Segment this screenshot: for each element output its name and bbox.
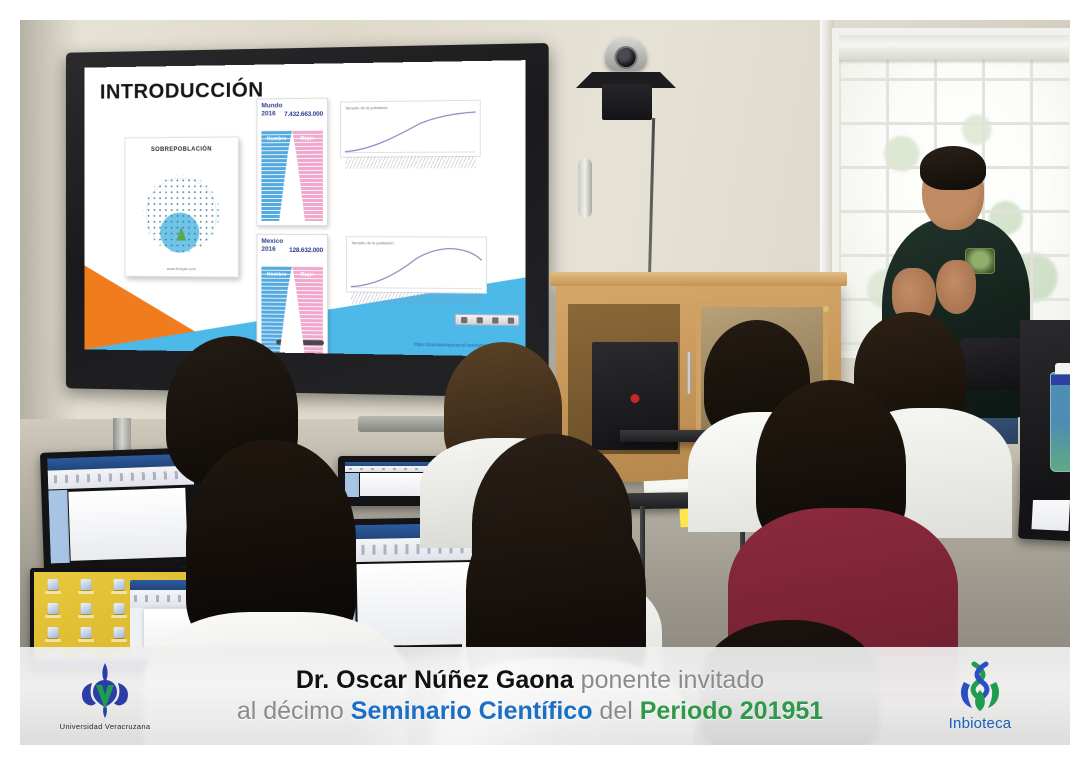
water-bottle [1050, 372, 1070, 472]
cabinet-door-handle[interactable] [687, 352, 691, 394]
bottle-cap [1055, 363, 1070, 374]
speaker-role: ponente invitado [574, 666, 764, 694]
population-growth-chart-mexico: Tamaño de la población [346, 236, 487, 294]
desktop-icon[interactable] [71, 626, 100, 647]
shape-icon[interactable] [492, 317, 498, 323]
pyramid-female-label: Mujer [300, 272, 314, 278]
pyramid-female-shape [292, 130, 323, 221]
globe-graphic [140, 171, 223, 256]
desktop-icon[interactable] [38, 626, 67, 647]
pyramid-male-side: Hombre [261, 130, 292, 221]
pyramid-body: Hombre Mujer [261, 130, 323, 221]
cabinet-latch-knob[interactable] [823, 306, 829, 312]
event-period: Periodo 201951 [640, 697, 823, 725]
event-name: Seminario Científico [351, 697, 593, 725]
classroom-photograph: INTRODUCCIÓN SOBREPOBLACIÓN www.freepik.… [20, 20, 1070, 745]
banner-caption-text: Dr. Oscar Núñez Gaona ponente invitado a… [190, 666, 890, 727]
equipment-power-led [631, 394, 640, 403]
seminar-announcement-poster: INTRODUCCIÓN SOBREPOBLACIÓN www.freepik.… [0, 0, 1090, 760]
pyramid-female-side: Mujer [292, 130, 323, 221]
camera-lens-icon [605, 37, 647, 71]
pyramid-male-label: Hombre [267, 136, 287, 142]
speaker-name: Dr. Oscar Núñez Gaona [296, 666, 574, 694]
caption-banner: Universidad Veracruzana Dr. Oscar Núñez … [20, 647, 1070, 745]
pyramid-population: 128.632.000 [289, 247, 323, 254]
growth-curve [343, 110, 478, 154]
pyramid-male-shape [261, 130, 292, 221]
chart-caption: Tamaño de la población [351, 240, 394, 245]
display-panel[interactable]: INTRODUCCIÓN SOBREPOBLACIÓN www.freepik.… [85, 60, 526, 357]
caption-line-2: al décimo Seminario Científico del Perio… [190, 697, 870, 727]
caption-line-1: Dr. Oscar Núñez Gaona ponente invitado [190, 666, 870, 696]
display-side-handle [578, 158, 592, 218]
pyramid-male-label: Hombre [267, 272, 287, 278]
poster-credit: www.freepik.com [126, 266, 238, 272]
desktop-icon[interactable] [71, 602, 100, 623]
inbioteca-wordmark: Inbioteca [949, 715, 1012, 732]
pyramid-header: Mexico 2016 128.632.000 [261, 239, 323, 264]
pen-icon[interactable] [461, 316, 467, 322]
population-pyramid-world: Mundo 2016 7.432.663.000 Hombre Mujer [256, 98, 327, 226]
presenter-hair [920, 146, 986, 190]
chart-axis-ticks [345, 156, 476, 169]
desktop-icon[interactable] [104, 602, 133, 623]
presenter-right-hand [936, 260, 976, 314]
crowd-dots [140, 171, 223, 256]
app-sidebar [48, 489, 70, 563]
event-connector: del [592, 697, 639, 725]
desktop-icon[interactable] [71, 578, 100, 599]
audience-member [756, 380, 906, 550]
tree-icon [176, 227, 186, 241]
document-page [69, 487, 188, 560]
event-prefix: al décimo [237, 697, 351, 725]
pyramid-population: 7.432.663.000 [284, 111, 323, 118]
cabinet-top-surface [550, 272, 847, 286]
pyramid-header: Mundo 2016 7.432.663.000 [261, 103, 323, 129]
pyramid-female-label: Mujer [300, 136, 314, 142]
fleur-de-lis-icon [74, 662, 136, 720]
bottle-collar [1051, 375, 1070, 385]
dna-flame-icon [952, 660, 1008, 714]
inbioteca-logo: Inbioteca [890, 647, 1070, 745]
audience-member [186, 440, 356, 650]
slide-annotation-toolbar[interactable] [455, 314, 519, 326]
camera-body [602, 84, 652, 120]
university-name: Universidad Veracruzana [60, 722, 151, 731]
slide-title: INTRODUCCIÓN [100, 79, 264, 105]
poster-title: SOBREPOBLACIÓN [126, 146, 238, 153]
display-mount-base [358, 416, 448, 432]
sobrepoblacion-poster: SOBREPOBLACIÓN www.freepik.com [125, 137, 239, 278]
eraser-icon[interactable] [476, 317, 482, 323]
chart-axis-ticks [351, 291, 482, 305]
desktop-icon[interactable] [104, 578, 133, 599]
desktop-icon[interactable] [104, 626, 133, 647]
chart-caption: Tamaño de la población [345, 105, 388, 111]
desktop-icon[interactable] [38, 602, 67, 623]
desktop-icon[interactable] [38, 578, 67, 599]
presentation-slide: INTRODUCCIÓN SOBREPOBLACIÓN www.freepik.… [85, 60, 526, 357]
universidad-veracruzana-logo: Universidad Veracruzana [20, 647, 190, 745]
population-growth-chart-world: Tamaño de la población [340, 100, 481, 158]
growth-curve [349, 246, 484, 289]
save-icon[interactable] [507, 317, 513, 323]
